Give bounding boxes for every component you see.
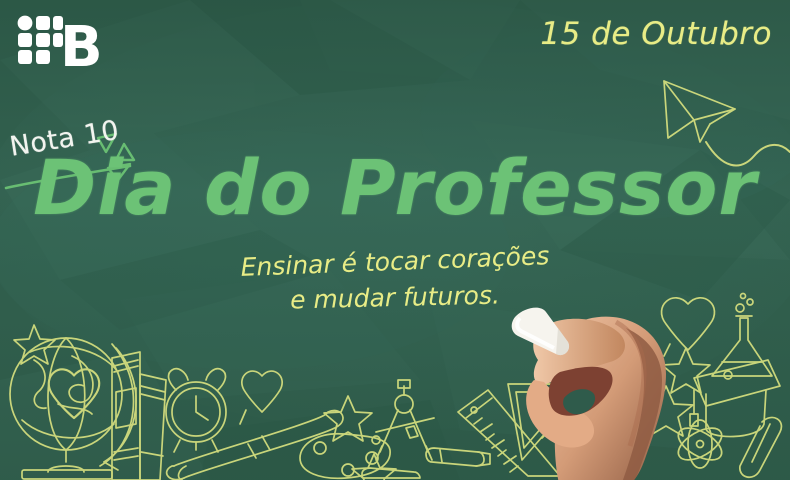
hand-holding-chalk-illustration <box>498 288 698 480</box>
page-title: Dia do Professor <box>0 150 790 226</box>
event-date: 15 de Outubro <box>540 16 772 52</box>
dia-do-professor-banner: B 15 de Outubro Nota 10 Dia do Professor… <box>0 0 790 480</box>
logo-dot-circle <box>18 16 33 31</box>
logo-letter-b: B <box>60 15 102 70</box>
ifb-logo[interactable]: B <box>16 14 102 70</box>
